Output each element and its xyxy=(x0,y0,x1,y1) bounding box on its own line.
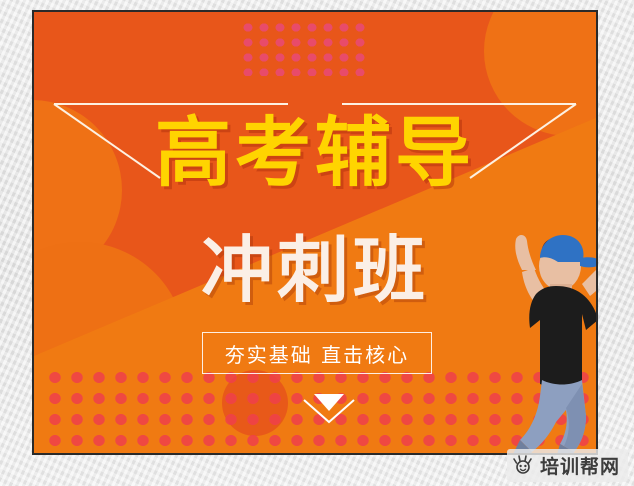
sun-face-icon xyxy=(512,454,534,478)
dot-grid-top-right xyxy=(240,20,370,76)
jumping-student-illustration xyxy=(486,208,596,453)
tagline-box: 夯实基础 直击核心 xyxy=(202,332,432,374)
poster-canvas: 高考辅导 冲刺班 夯实基础 直击核心 xyxy=(34,12,596,453)
poster-frame: 高考辅导 冲刺班 夯实基础 直击核心 xyxy=(32,10,598,455)
tagline-text: 夯实基础 直击核心 xyxy=(225,339,409,368)
headline-main: 高考辅导 xyxy=(34,112,596,194)
watermark-label: 培训帮网 xyxy=(540,452,620,479)
watermark: 培训帮网 xyxy=(507,449,628,482)
chevron-down-arrow-icon xyxy=(302,390,356,424)
